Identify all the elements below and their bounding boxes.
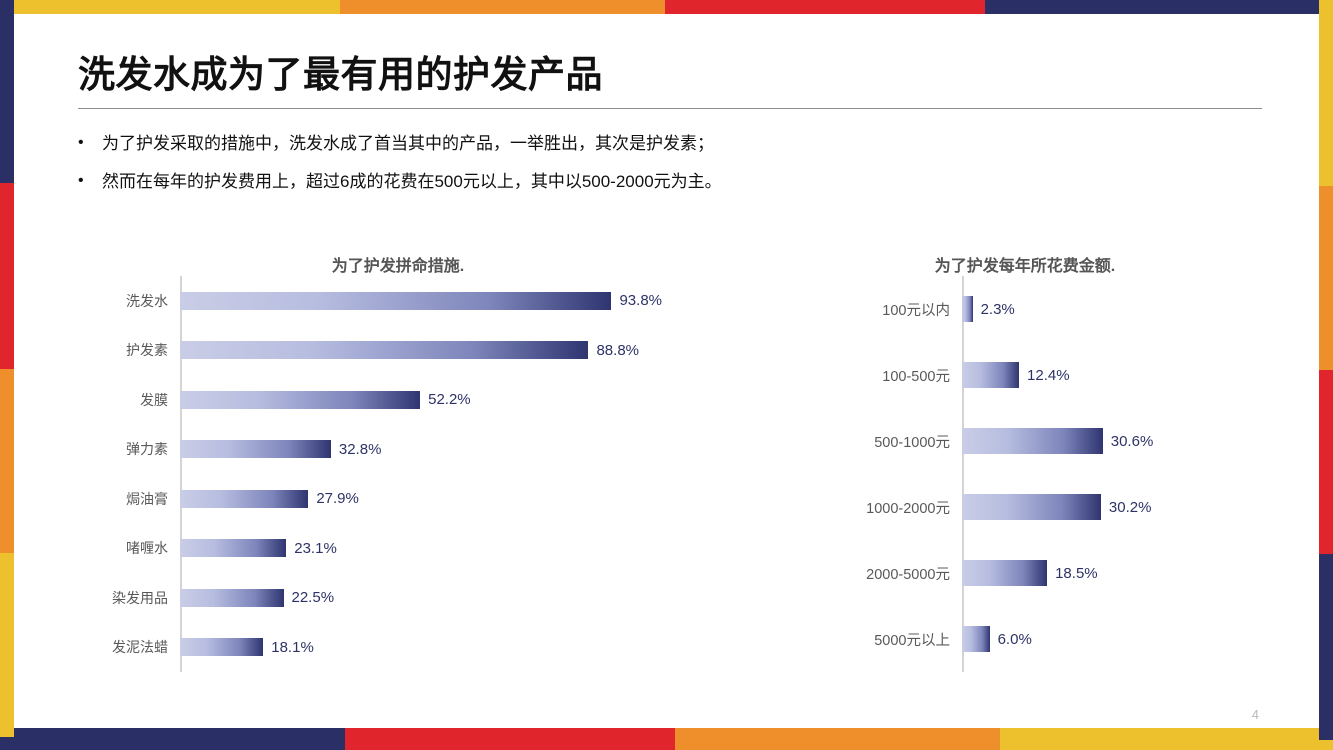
chart-bar [180, 539, 286, 557]
bottom-bar-segment-red [345, 728, 675, 750]
chart-bar [180, 490, 308, 508]
chart-category-label: 发泥法蜡 [78, 637, 180, 657]
chart-bar-row: 弹力素32.8% [78, 425, 718, 475]
chart-bar [180, 292, 611, 310]
chart-bar [962, 626, 990, 652]
chart-bar-row: 100-500元12.4% [790, 342, 1260, 408]
right-edge-segment-red [1319, 370, 1333, 554]
bullet-marker-icon: • [78, 171, 102, 192]
title-divider [78, 108, 1262, 109]
chart-bar-row: 发泥法蜡18.1% [78, 623, 718, 673]
chart-category-label: 100元以内 [790, 299, 962, 320]
chart-bar [180, 589, 284, 607]
chart-bar [962, 560, 1047, 586]
chart-value-label: 23.1% [286, 540, 337, 557]
chart-bar-container: 12.4% [962, 362, 1260, 388]
chart-bar-container: 23.1% [180, 539, 718, 557]
chart-bar-container: 6.0% [962, 626, 1260, 652]
bottom-bar-segment-yellow [1000, 728, 1333, 750]
left-edge-segment-navy [0, 0, 14, 183]
right-edge-segment-yellow [1319, 0, 1333, 186]
chart-value-label: 32.8% [331, 441, 382, 458]
chart-category-label: 焗油膏 [78, 489, 180, 509]
chart-hair-care-measures: 为了护发拼命措施. 洗发水93.8%护发素88.8%发膜52.2%弹力素32.8… [78, 252, 718, 672]
chart-plot-area: 100元以内2.3%100-500元12.4%500-1000元30.6%100… [790, 276, 1260, 672]
chart-category-label: 500-1000元 [790, 431, 962, 452]
chart-bar-row: 5000元以上6.0% [790, 606, 1260, 672]
chart-category-label: 啫喱水 [78, 538, 180, 558]
bullet-text: 然而在每年的护发费用上，超过6成的花费在500元以上，其中以500-2000元为… [102, 171, 1268, 193]
chart-bar-row: 100元以内2.3% [790, 276, 1260, 342]
chart-category-label: 100-500元 [790, 365, 962, 386]
chart-bar-row: 焗油膏27.9% [78, 474, 718, 524]
chart-bar [962, 362, 1019, 388]
chart-bar [180, 341, 588, 359]
chart-title: 为了护发每年所花费金额. [790, 252, 1260, 276]
chart-bar-row: 500-1000元30.6% [790, 408, 1260, 474]
chart-bar-row: 染发用品22.5% [78, 573, 718, 623]
chart-bar-container: 27.9% [180, 490, 718, 508]
bullet-text: 为了护发采取的措施中，洗发水成了首当其中的产品，一举胜出，其次是护发素； [102, 133, 1268, 155]
chart-bar-row: 1000-2000元30.2% [790, 474, 1260, 540]
chart-value-label: 88.8% [588, 342, 639, 359]
chart-bar [180, 440, 331, 458]
chart-plot-area: 洗发水93.8%护发素88.8%发膜52.2%弹力素32.8%焗油膏27.9%啫… [78, 276, 718, 672]
chart-bar-container: 2.3% [962, 296, 1260, 322]
top-bar-segment-navy [985, 0, 1333, 14]
chart-value-label: 18.5% [1047, 565, 1098, 582]
chart-bar [180, 391, 420, 409]
chart-value-label: 22.5% [284, 589, 335, 606]
top-bar-segment-yellow [0, 0, 340, 14]
right-edge-segment-navy [1319, 554, 1333, 740]
chart-value-label: 30.2% [1101, 499, 1152, 516]
chart-bar-row: 啫喱水23.1% [78, 524, 718, 574]
chart-value-label: 30.6% [1103, 433, 1154, 450]
chart-category-label: 5000元以上 [790, 629, 962, 650]
chart-value-label: 18.1% [263, 639, 314, 656]
chart-category-label: 染发用品 [78, 588, 180, 608]
chart-bar [180, 638, 263, 656]
slide: 洗发水成为了最有用的护发产品 • 为了护发采取的措施中，洗发水成了首当其中的产品… [0, 0, 1333, 750]
chart-category-label: 弹力素 [78, 439, 180, 459]
chart-bar-container: 22.5% [180, 589, 718, 607]
left-edge-segment-orange [0, 369, 14, 553]
right-edge-segment-orange [1319, 186, 1333, 370]
left-edge-segment-yellow [0, 553, 14, 737]
chart-rows: 100元以内2.3%100-500元12.4%500-1000元30.6%100… [790, 276, 1260, 672]
chart-title: 为了护发拼命措施. [78, 252, 718, 276]
chart-value-label: 93.8% [611, 292, 662, 309]
page-number: 4 [1252, 707, 1259, 722]
left-edge-segment-red [0, 183, 14, 369]
chart-category-label: 发膜 [78, 390, 180, 410]
top-bar-segment-orange [340, 0, 665, 14]
chart-value-label: 12.4% [1019, 367, 1070, 384]
chart-bar [962, 296, 973, 322]
chart-bar-container: 18.5% [962, 560, 1260, 586]
bottom-bar-segment-navy [0, 728, 345, 750]
list-item: • 然而在每年的护发费用上，超过6成的花费在500元以上，其中以500-2000… [78, 171, 1268, 193]
chart-bar-row: 发膜52.2% [78, 375, 718, 425]
chart-value-label: 2.3% [973, 301, 1015, 318]
chart-bar-container: 93.8% [180, 292, 718, 310]
chart-value-label: 52.2% [420, 391, 471, 408]
chart-bar-container: 32.8% [180, 440, 718, 458]
chart-bar-row: 护发素88.8% [78, 326, 718, 376]
chart-category-label: 洗发水 [78, 291, 180, 311]
chart-value-label: 6.0% [990, 631, 1032, 648]
chart-annual-spend: 为了护发每年所花费金额. 100元以内2.3%100-500元12.4%500-… [790, 252, 1260, 672]
bullet-list: • 为了护发采取的措施中，洗发水成了首当其中的产品，一举胜出，其次是护发素； •… [78, 133, 1268, 209]
chart-bar-container: 52.2% [180, 391, 718, 409]
chart-category-label: 1000-2000元 [790, 497, 962, 518]
chart-rows: 洗发水93.8%护发素88.8%发膜52.2%弹力素32.8%焗油膏27.9%啫… [78, 276, 718, 672]
chart-bar-container: 30.6% [962, 428, 1260, 454]
top-bar-segment-red [665, 0, 985, 14]
chart-bar-container: 18.1% [180, 638, 718, 656]
list-item: • 为了护发采取的措施中，洗发水成了首当其中的产品，一举胜出，其次是护发素； [78, 133, 1268, 155]
chart-bar-row: 2000-5000元18.5% [790, 540, 1260, 606]
chart-value-label: 27.9% [308, 490, 359, 507]
bottom-bar-segment-orange [675, 728, 1000, 750]
chart-bar [962, 428, 1103, 454]
page-title: 洗发水成为了最有用的护发产品 [78, 44, 603, 98]
chart-bar-container: 30.2% [962, 494, 1260, 520]
chart-bar [962, 494, 1101, 520]
chart-category-label: 2000-5000元 [790, 563, 962, 584]
chart-bar-row: 洗发水93.8% [78, 276, 718, 326]
chart-bar-container: 88.8% [180, 341, 718, 359]
bullet-marker-icon: • [78, 133, 102, 154]
chart-category-label: 护发素 [78, 340, 180, 360]
